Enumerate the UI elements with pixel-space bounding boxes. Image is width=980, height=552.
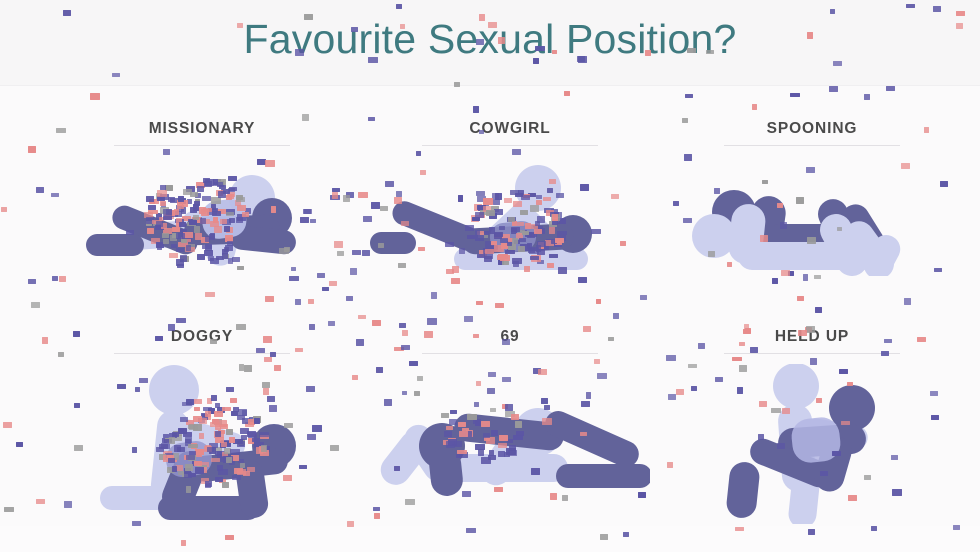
cell-missionary: MISSIONARY <box>62 120 342 276</box>
cell-label-missionary: MISSIONARY <box>62 120 342 138</box>
cell-sixtynine: 69 <box>370 328 650 504</box>
cell-doggy: DOGGY <box>62 328 342 524</box>
page-title: Favourite Sexual Position? <box>0 16 980 63</box>
cell-rule-spooning <box>724 145 900 146</box>
cell-cowgirl: COWGIRL <box>370 120 650 276</box>
cell-label-sixtynine: 69 <box>370 328 650 346</box>
background-divider <box>0 85 980 86</box>
cell-heldup: HELD UP <box>672 328 952 524</box>
cell-rule-sixtynine <box>422 353 598 354</box>
spooning-icon <box>672 156 952 276</box>
cell-rule-cowgirl <box>422 145 598 146</box>
heldup-icon <box>672 364 952 524</box>
background-band-bottom <box>0 526 980 552</box>
cell-rule-missionary <box>114 145 290 146</box>
cell-label-cowgirl: COWGIRL <box>370 120 650 138</box>
slide-canvas: Favourite Sexual Position? MISSIONARY <box>0 0 980 552</box>
cell-label-doggy: DOGGY <box>62 328 342 346</box>
cell-rule-doggy <box>114 353 290 354</box>
doggy-icon <box>62 364 342 524</box>
cell-label-spooning: SPOONING <box>672 120 952 138</box>
cowgirl-icon <box>370 156 650 276</box>
missionary-icon <box>62 156 342 276</box>
sixtynine-icon <box>370 364 650 504</box>
cell-spooning: SPOONING <box>672 120 952 276</box>
cell-rule-heldup <box>724 353 900 354</box>
cell-label-heldup: HELD UP <box>672 328 952 346</box>
